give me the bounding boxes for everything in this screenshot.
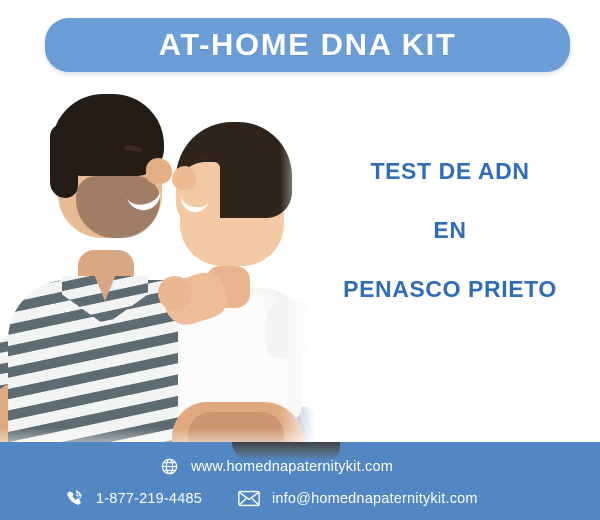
phone-icon bbox=[65, 489, 84, 508]
website-text: www.homednapaternitykit.com bbox=[191, 459, 393, 475]
photo-illustration bbox=[0, 80, 320, 462]
family-photo bbox=[0, 80, 320, 462]
header-banner: AT-HOME DNA KIT bbox=[45, 18, 570, 72]
headline-line-1: TEST DE ADN bbox=[310, 160, 590, 183]
headline-block: TEST DE ADN EN PENASCO PRIETO bbox=[310, 160, 590, 301]
child-nose bbox=[172, 166, 196, 190]
phone-text: 1-877-219-4485 bbox=[96, 491, 202, 507]
headline-line-2: EN bbox=[310, 219, 590, 242]
envelope-icon bbox=[238, 490, 260, 507]
headline-line-3: PENASCO PRIETO bbox=[310, 278, 590, 301]
footer-contact-row: 1-877-219-4485 info@homednapaternitykit.… bbox=[65, 489, 478, 508]
poster-canvas: AT-HOME DNA KIT bbox=[0, 0, 600, 520]
page-title: AT-HOME DNA KIT bbox=[159, 27, 457, 63]
globe-icon bbox=[160, 457, 179, 476]
child-hand bbox=[158, 276, 192, 310]
email-text: info@homednapaternitykit.com bbox=[272, 491, 478, 507]
man-sideburn bbox=[50, 124, 78, 198]
footer-website-row[interactable]: www.homednapaternitykit.com bbox=[160, 457, 393, 476]
man-nose bbox=[146, 158, 172, 184]
